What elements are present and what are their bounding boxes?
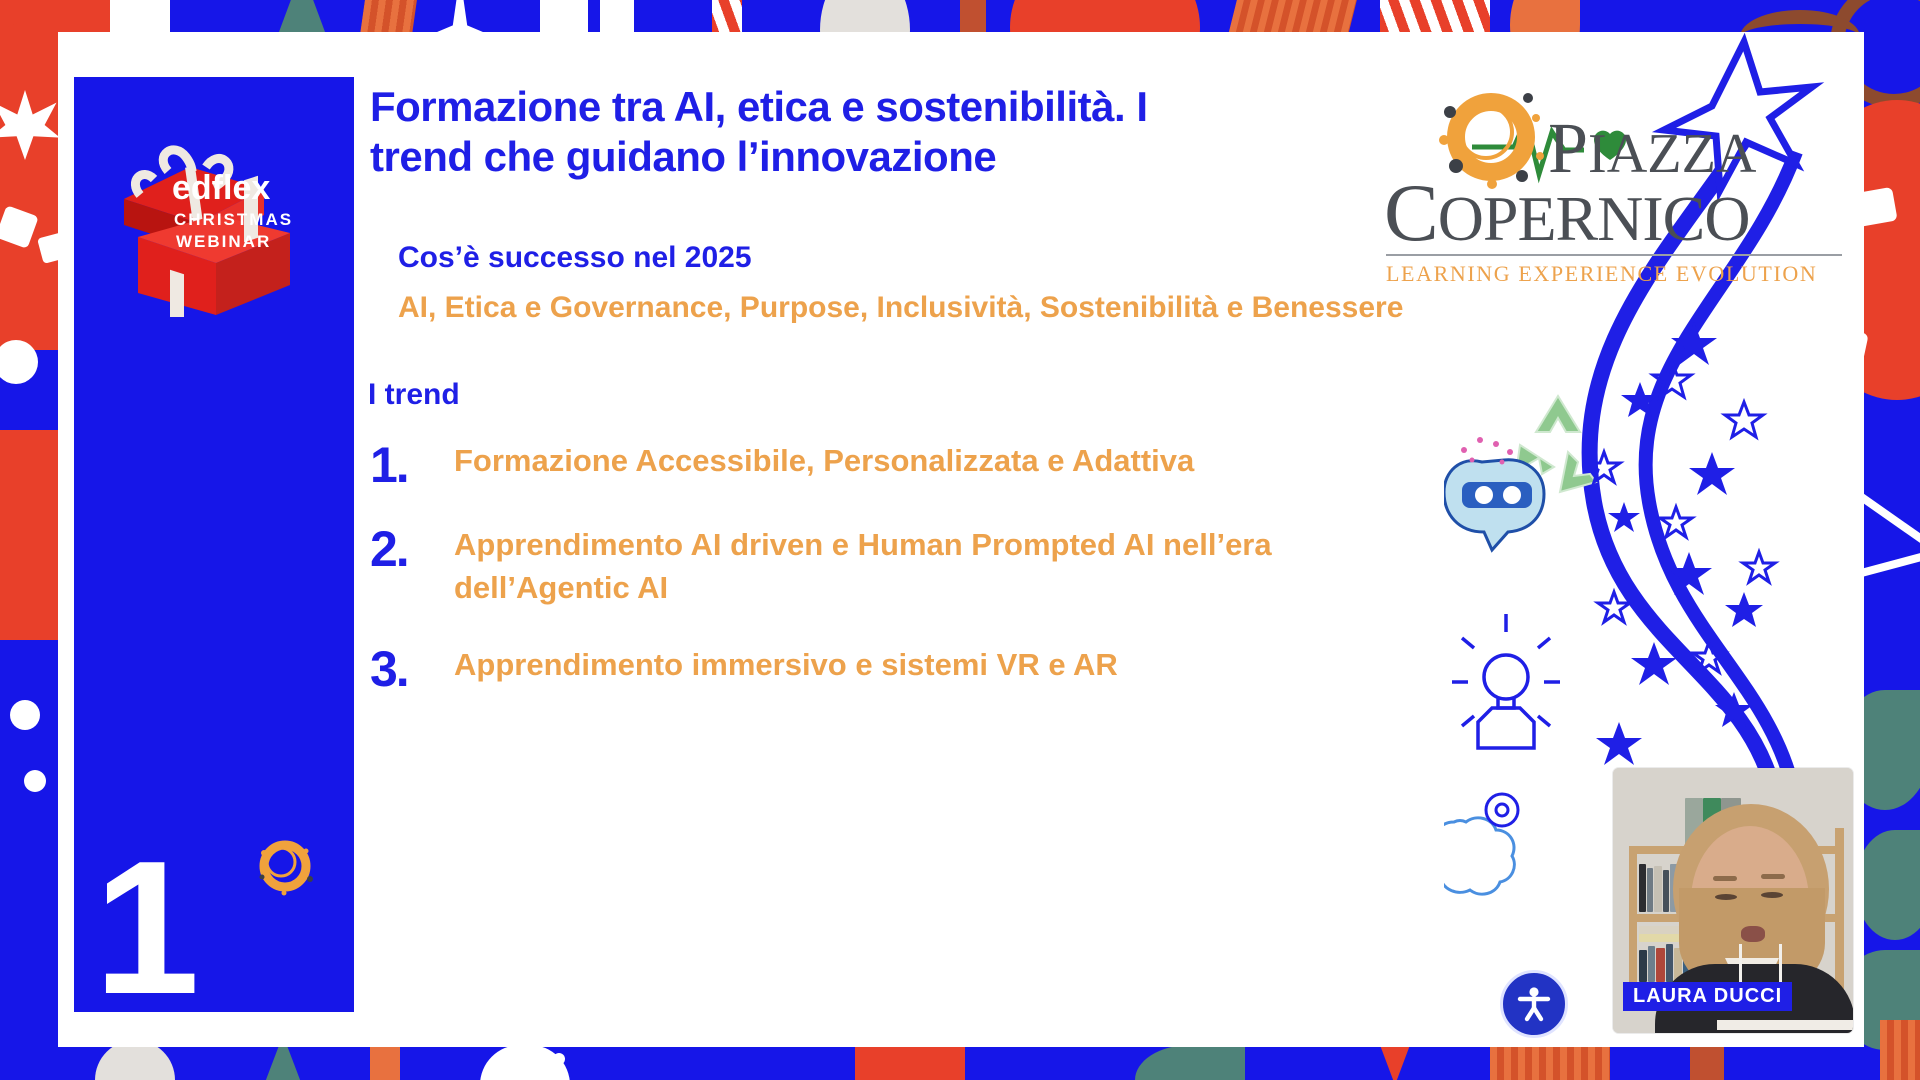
list-item-label: Apprendimento immersivo e sistemi VR e A…	[454, 644, 1118, 687]
book	[1639, 864, 1646, 912]
bg-stripe	[1880, 1020, 1920, 1080]
accessibility-widget-button[interactable]	[1500, 970, 1568, 1038]
section-block: Cos’è successo nel 2025 AI, Etica e Gove…	[370, 241, 1534, 328]
accessibility-person-icon	[1514, 984, 1554, 1024]
bg-leaf	[1855, 830, 1920, 940]
section-subheading: AI, Etica e Governance, Purpose, Inclusi…	[398, 287, 1534, 328]
page-title: Formazione tra AI, etica e sostenibilità…	[370, 82, 1150, 181]
bg-stripe	[1490, 1042, 1610, 1080]
trend-list: 1. Formazione Accessibile, Personalizzat…	[370, 440, 1534, 694]
book	[1654, 866, 1662, 912]
star-outline-icon	[1588, 362, 1775, 807]
bg-ornament	[24, 770, 46, 792]
list-item-number: 3.	[370, 644, 454, 694]
book	[1639, 950, 1647, 982]
bg-shape	[1690, 1042, 1724, 1080]
slide-content: Formazione tra AI, etica e sostenibilità…	[370, 82, 1534, 728]
edflex-line1: CHRISTMAS	[174, 210, 293, 229]
bg-shape	[855, 1045, 965, 1080]
screen: edflex CHRISTMAS WEBINAR 1	[0, 0, 1920, 1080]
eye	[1761, 892, 1783, 898]
earphone-cable	[1779, 944, 1782, 986]
bookshelf	[1835, 828, 1844, 998]
book	[1647, 868, 1653, 912]
mouth	[1741, 926, 1765, 942]
slide-left-panel: edflex CHRISTMAS WEBINAR 1	[74, 77, 354, 1012]
section-heading: Cos’è successo nel 2025	[398, 241, 1534, 275]
presentation-slide: edflex CHRISTMAS WEBINAR 1	[58, 32, 1864, 1047]
list-item-number: 1.	[370, 440, 454, 490]
list-item-number: 2.	[370, 524, 454, 574]
bg-ornament	[553, 1053, 565, 1065]
list-item: 2. Apprendimento AI driven e Human Promp…	[370, 524, 1534, 610]
eyebrow	[1761, 874, 1785, 879]
trends-heading: I trend	[368, 378, 1534, 412]
book	[1648, 946, 1655, 982]
book	[1656, 948, 1665, 982]
brain-gear-icon	[1444, 794, 1518, 894]
orange-ring-icon	[254, 835, 316, 897]
list-item: 1. Formazione Accessibile, Personalizzat…	[370, 440, 1534, 490]
bg-leaf	[1135, 1045, 1245, 1080]
bookshelf	[1629, 846, 1637, 996]
eye	[1715, 894, 1737, 900]
bg-shape	[1380, 1045, 1410, 1080]
list-item-label: Formazione Accessibile, Personalizzata e…	[454, 440, 1194, 483]
edflex-line2: WEBINAR	[176, 232, 271, 251]
webcam-video-tile[interactable]: LAURA DUCCI	[1613, 768, 1853, 1033]
star-icon	[1596, 322, 1763, 807]
book	[1663, 870, 1669, 912]
bg-ornament	[10, 700, 40, 730]
book	[1666, 944, 1673, 982]
eyebrow	[1713, 876, 1737, 881]
list-item-label: Apprendimento AI driven e Human Prompted…	[454, 524, 1454, 610]
speaker-name-badge: LAURA DUCCI	[1623, 982, 1792, 1011]
edflex-logo: edflex CHRISTMAS WEBINAR	[94, 137, 334, 317]
edflex-wordmark: edflex	[172, 169, 270, 207]
list-item: 3. Apprendimento immersivo e sistemi VR …	[370, 644, 1534, 694]
shirt-stripe	[1717, 1020, 1853, 1030]
